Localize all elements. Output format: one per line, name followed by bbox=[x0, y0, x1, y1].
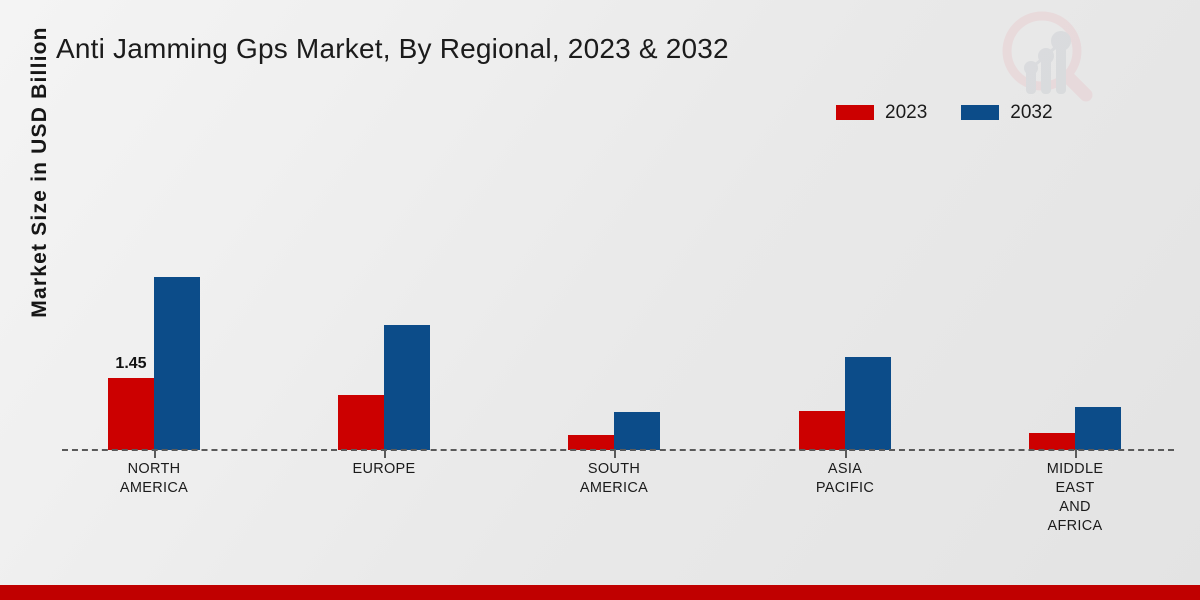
category-label-line: MIDDLE bbox=[965, 460, 1185, 479]
bar-2023[interactable]: 1.45 bbox=[108, 378, 154, 450]
bar-group: 1.45 bbox=[108, 150, 200, 450]
x-axis-category-label: ASIAPACIFIC bbox=[735, 460, 955, 498]
category-label-line: AMERICA bbox=[44, 479, 264, 498]
category-label-line: SOUTH bbox=[504, 460, 724, 479]
legend-swatch-2023 bbox=[836, 105, 874, 120]
legend-item-2023[interactable]: 2023 bbox=[836, 103, 927, 122]
chart-title: Anti Jamming Gps Market, By Regional, 20… bbox=[56, 33, 729, 65]
bar-group bbox=[1029, 150, 1121, 450]
bar-2032[interactable] bbox=[614, 412, 660, 450]
bar-2032[interactable] bbox=[384, 325, 430, 450]
category-label-line: EUROPE bbox=[274, 460, 494, 479]
category-label-line: NORTH bbox=[44, 460, 264, 479]
x-axis-tick bbox=[1075, 449, 1077, 458]
y-axis-title: Market Size in USD Billion bbox=[28, 7, 52, 337]
legend-label-2032: 2032 bbox=[1010, 103, 1052, 122]
bar-group bbox=[338, 150, 430, 450]
legend-item-2032[interactable]: 2032 bbox=[961, 103, 1052, 122]
bar-2032[interactable] bbox=[845, 357, 891, 450]
bar-group bbox=[799, 150, 891, 450]
bar-2023[interactable] bbox=[568, 435, 614, 450]
plot-area: 1.45 bbox=[62, 150, 1174, 450]
x-axis-tick bbox=[154, 449, 156, 458]
bar-group bbox=[568, 150, 660, 450]
bar-value-label: 1.45 bbox=[115, 355, 146, 373]
bar-2023[interactable] bbox=[799, 411, 845, 450]
x-axis-category-label: SOUTHAMERICA bbox=[504, 460, 724, 498]
category-label-line: ASIA bbox=[735, 460, 955, 479]
bar-2023[interactable] bbox=[338, 395, 384, 450]
category-label-line: EAST bbox=[965, 479, 1185, 498]
legend-swatch-2032 bbox=[961, 105, 999, 120]
bar-2032[interactable] bbox=[1075, 407, 1121, 450]
x-axis-category-label: MIDDLEEASTANDAFRICA bbox=[965, 460, 1185, 536]
x-axis-category-label: EUROPE bbox=[274, 460, 494, 479]
magnifier-icon bbox=[1007, 16, 1086, 95]
chart-legend: 2023 2032 bbox=[836, 103, 1053, 122]
x-axis-tick bbox=[845, 449, 847, 458]
bottom-accent-bar bbox=[0, 585, 1200, 600]
category-label-line: AFRICA bbox=[965, 517, 1185, 536]
x-axis-tick bbox=[384, 449, 386, 458]
x-axis-tick bbox=[614, 449, 616, 458]
legend-label-2023: 2023 bbox=[885, 103, 927, 122]
company-logo-watermark bbox=[990, 6, 1100, 102]
category-label-line: AMERICA bbox=[504, 479, 724, 498]
bar-2032[interactable] bbox=[154, 277, 200, 450]
category-label-line: AND bbox=[965, 498, 1185, 517]
bar-chart-glyph bbox=[1024, 31, 1071, 94]
x-axis-baseline bbox=[62, 449, 1174, 451]
chart-container: Anti Jamming Gps Market, By Regional, 20… bbox=[0, 0, 1200, 600]
category-label-line: PACIFIC bbox=[735, 479, 955, 498]
x-axis-category-label: NORTHAMERICA bbox=[44, 460, 264, 498]
bar-2023[interactable] bbox=[1029, 433, 1075, 450]
